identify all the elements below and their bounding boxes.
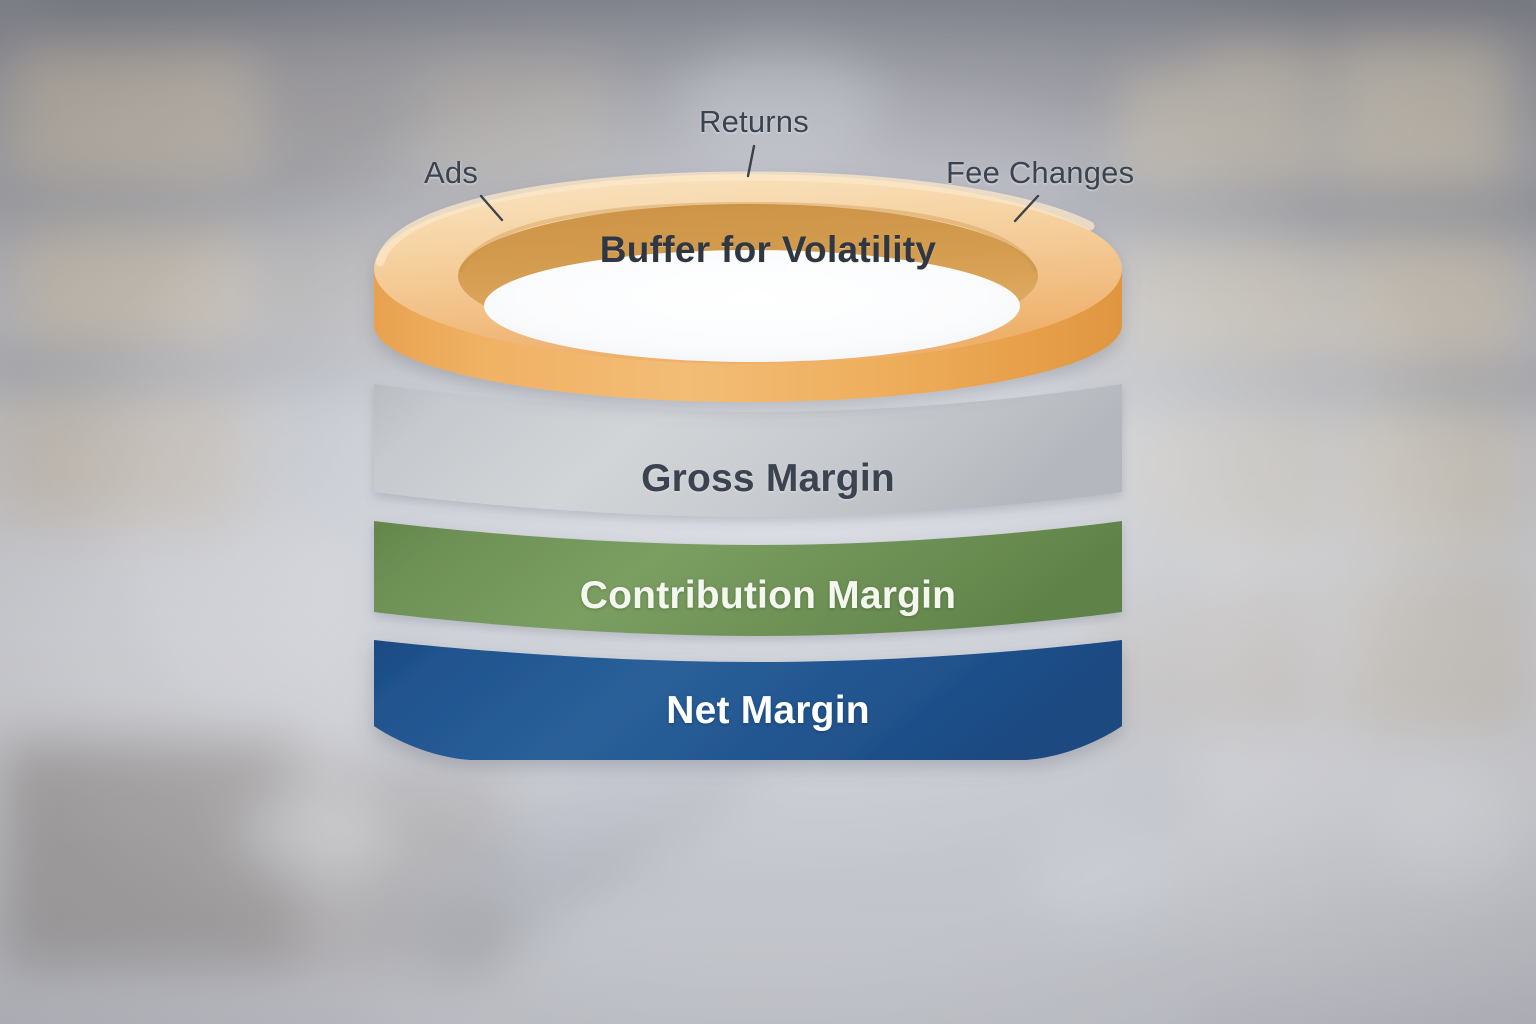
leader-line-returns — [748, 146, 754, 176]
diagram-canvas — [0, 0, 1536, 1024]
layer-contribution-margin[interactable] — [374, 521, 1122, 636]
layer-gross-margin[interactable] — [374, 384, 1122, 517]
margin-stack-diagram: Ads Returns Fee Changes Buffer for Volat… — [0, 0, 1536, 1024]
callout-label-returns[interactable]: Returns — [699, 104, 809, 140]
callout-label-fee-changes[interactable]: Fee Changes — [946, 155, 1134, 191]
callout-label-ads[interactable]: Ads — [424, 155, 478, 191]
layer-buffer-ring[interactable] — [374, 174, 1122, 402]
layer-net-margin[interactable] — [374, 640, 1122, 760]
